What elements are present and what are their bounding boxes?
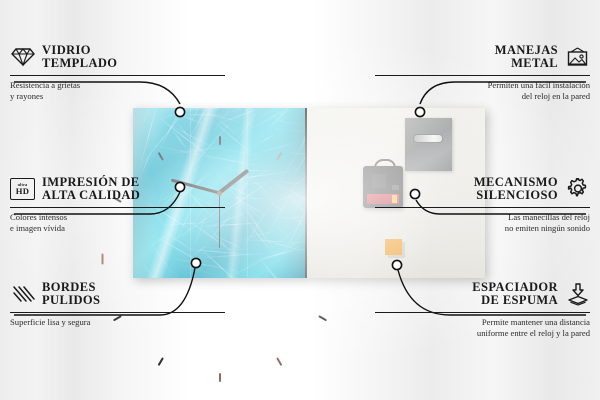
callout-manejas-metal[interactable]: MANEJAS METAL Permiten una fácil instala…	[375, 44, 590, 102]
gear-icon	[565, 178, 590, 201]
callout-desc-line1: Superficie lisa y segura	[10, 317, 225, 328]
callout-rule	[10, 312, 225, 313]
arrow-onto-layers-icon	[565, 283, 590, 306]
callout-rule	[375, 75, 590, 76]
callout-rule	[10, 207, 225, 208]
ultra-hd-icon: ultra HD	[10, 178, 35, 201]
diamond-icon	[10, 46, 35, 69]
infographic-canvas: VIDRIO TEMPLADO Resistencia a grietas y …	[0, 0, 600, 400]
callout-espaciador-espuma[interactable]: ESPACIADOR DE ESPUMA Permite mantener un…	[375, 281, 590, 339]
callout-rule	[375, 312, 590, 313]
callout-desc-line2: y rayones	[10, 91, 225, 102]
callout-desc-line2: no emiten ningún sonido	[375, 223, 590, 234]
callout-title-line2: PULIDOS	[42, 294, 100, 307]
metal-hanger-plate	[405, 118, 452, 171]
foam-spacer	[385, 239, 402, 255]
callout-desc-line2: e imagen vívida	[10, 223, 225, 234]
callout-desc-line1: Permite mantener una distancia	[375, 317, 590, 328]
callout-title-line2: ALTA CALIDAD	[42, 189, 140, 202]
callout-desc-line1: Permiten una fácil instalación	[375, 80, 590, 91]
callout-desc-line1: Colores intensos	[10, 212, 225, 223]
callout-desc-line1: Las manecillas del reloj	[375, 212, 590, 223]
callout-title-line1: MANEJAS	[495, 44, 558, 57]
callout-impresion-alta-calidad[interactable]: ultra HD IMPRESIÓN DE ALTA CALIDAD Color…	[10, 176, 225, 234]
wall-frame-icon	[565, 46, 590, 69]
callout-title-line2: METAL	[495, 57, 558, 70]
callout-rule	[375, 207, 590, 208]
callout-vidrio-templado[interactable]: VIDRIO TEMPLADO Resistencia a grietas y …	[10, 44, 225, 102]
callout-desc-line1: Resistencia a grietas	[10, 80, 225, 91]
callout-title-line2: TEMPLADO	[42, 57, 117, 70]
callout-rule	[10, 75, 225, 76]
callout-desc-line2: del reloj en la pared	[375, 91, 590, 102]
callout-title-line1: VIDRIO	[42, 44, 117, 57]
callout-bordes-pulidos[interactable]: BORDES PULIDOS Superficie lisa y segura	[10, 281, 225, 328]
polished-edges-icon	[10, 283, 35, 306]
callout-title-line1: BORDES	[42, 281, 100, 294]
callout-title-line1: IMPRESIÓN DE	[42, 176, 140, 189]
callout-title-line1: MECANISMO	[474, 176, 558, 189]
callout-title-line2: SILENCIOSO	[474, 189, 558, 202]
callout-title-line1: ESPACIADOR	[472, 281, 558, 294]
callout-title-line2: DE ESPUMA	[472, 294, 558, 307]
hd-icon-large-label: HD	[16, 187, 30, 196]
callout-mecanismo-silencioso[interactable]: MECANISMO SILENCIOSO Las manecillas del …	[375, 176, 590, 234]
callout-desc-line2: uniforme entre el reloj y la pared	[375, 328, 590, 339]
